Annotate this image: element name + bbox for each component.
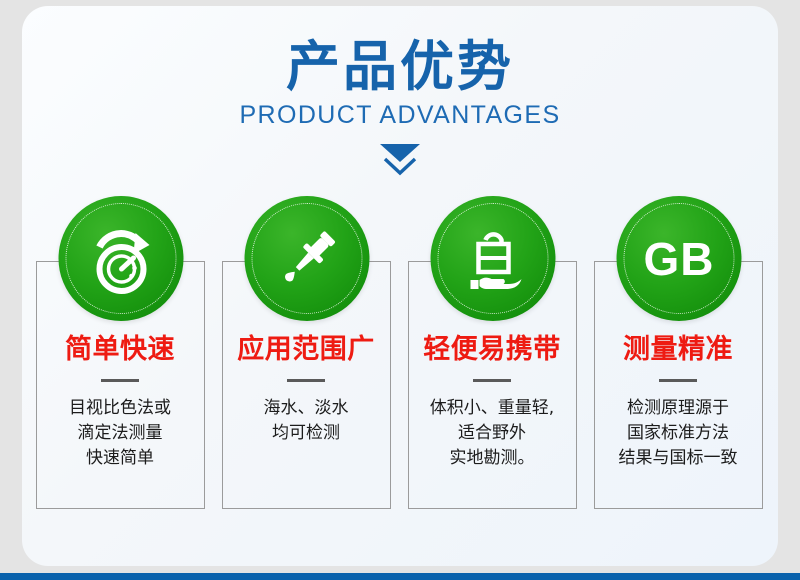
card-title: 测量精准 <box>623 334 733 366</box>
speedometer-gauge-icon <box>59 196 184 321</box>
card-body-line: 目视比色法或 <box>69 396 171 421</box>
title-divider <box>101 379 139 382</box>
advantage-card-accurate[interactable]: GB 测量精准 检测原理源于 国家标准方法 结果与国标一致 <box>594 196 765 511</box>
card-title: 应用范围广 <box>237 334 375 366</box>
card-title: 简单快速 <box>65 334 175 366</box>
card-body-line: 结果与国标一致 <box>619 446 738 471</box>
card-body-line: 适合野外 <box>430 421 554 446</box>
hand-holding-case-icon <box>431 196 556 321</box>
advantage-card-simple-fast[interactable]: 简单快速 目视比色法或 滴定法测量 快速简单 <box>36 196 207 511</box>
product-advantages-panel: 产品优势 PRODUCT ADVANTAGES <box>22 6 778 566</box>
dropper-pipette-icon <box>245 196 370 321</box>
card-body: 体积小、重量轻, 适合野外 实地勘测。 <box>430 396 554 471</box>
page-title: 产品优势 <box>22 36 778 98</box>
bottom-accent-bar <box>0 573 800 580</box>
card-body: 目视比色法或 滴定法测量 快速简单 <box>69 396 171 471</box>
card-body-line: 均可检测 <box>264 421 349 446</box>
card-body: 海水、淡水 均可检测 <box>264 396 349 446</box>
card-body-line: 体积小、重量轻, <box>430 396 554 421</box>
card-title: 轻便易携带 <box>423 334 561 366</box>
card-body-line: 实地勘测。 <box>430 446 554 471</box>
card-body-line: 国家标准方法 <box>619 421 738 446</box>
card-body: 检测原理源于 国家标准方法 结果与国标一致 <box>619 396 738 471</box>
advantage-card-wide-application[interactable]: 应用范围广 海水、淡水 均可检测 <box>222 196 393 511</box>
card-body-line: 检测原理源于 <box>619 396 738 421</box>
title-divider <box>287 379 325 382</box>
gb-standard-icon: GB <box>617 196 742 321</box>
chevron-down-icon <box>22 142 778 176</box>
gb-label: GB <box>644 236 715 282</box>
card-body-line: 滴定法测量 <box>69 421 171 446</box>
title-divider <box>473 379 511 382</box>
title-divider <box>659 379 697 382</box>
header: 产品优势 PRODUCT ADVANTAGES <box>22 6 778 176</box>
page-subtitle: PRODUCT ADVANTAGES <box>22 100 778 130</box>
card-body-line: 快速简单 <box>69 446 171 471</box>
advantage-cards: 简单快速 目视比色法或 滴定法测量 快速简单 <box>22 196 778 511</box>
advantage-card-portable[interactable]: 轻便易携带 体积小、重量轻, 适合野外 实地勘测。 <box>408 196 579 511</box>
card-body-line: 海水、淡水 <box>264 396 349 421</box>
